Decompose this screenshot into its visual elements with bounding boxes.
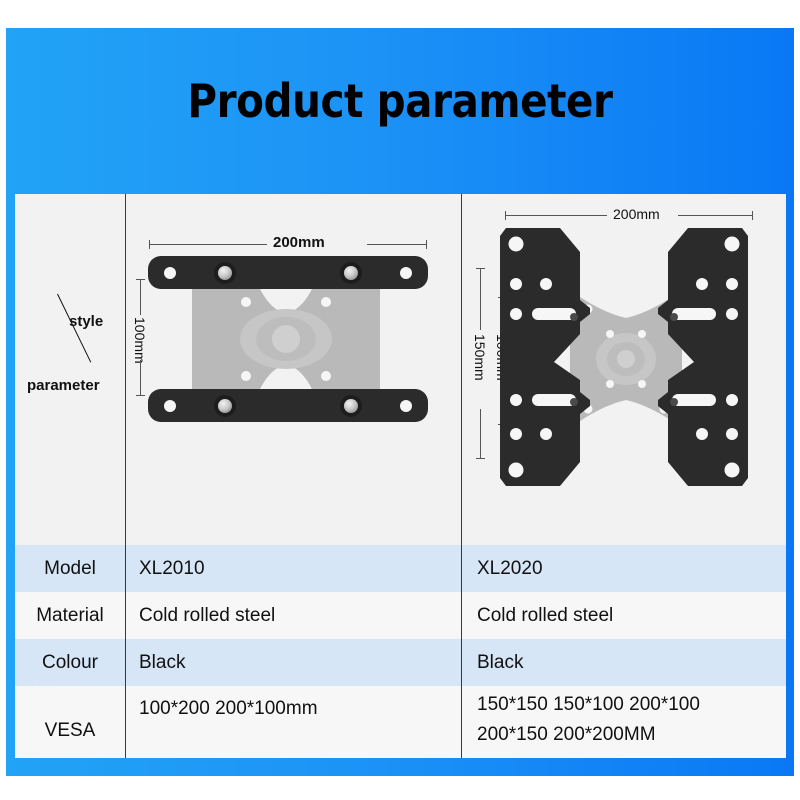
row-label-vesa: VESA <box>15 720 125 742</box>
bracket-hole <box>164 267 176 279</box>
bracket-plate-right <box>652 222 750 492</box>
dim-cap-bottom <box>136 395 145 396</box>
table-row: Model XL2010 XL2020 <box>15 545 786 592</box>
table-corner-header: style parameter <box>15 194 125 545</box>
dim-line-outer-bottom-seg <box>480 409 481 459</box>
table-row: Material Cold rolled steel Cold rolled s… <box>15 592 786 639</box>
row-label-material: Material <box>15 605 125 627</box>
bracket-bolt <box>344 399 358 413</box>
column-divider-1 <box>125 194 126 758</box>
row-value-vesa-xl2020-line1: 150*150 150*100 200*100 <box>477 694 700 716</box>
bracket-hole <box>400 267 412 279</box>
column-divider-2 <box>461 194 462 758</box>
row-value-vesa-xl2010: 100*200 200*100mm <box>139 698 318 720</box>
table-row: VESA 100*200 200*100mm 150*150 150*100 2… <box>15 686 786 758</box>
dim-cap-right <box>426 240 427 249</box>
dim-label-width: 200mm <box>613 206 660 222</box>
row-value-model-xl2020: XL2020 <box>477 558 543 580</box>
corner-header-style-label: style <box>69 313 103 330</box>
row-value-colour-xl2010: Black <box>139 652 185 674</box>
bracket-arm-bottom <box>148 389 428 422</box>
product-image-xl2010: 200mm 100mm <box>126 194 461 545</box>
dim-line-bottom-seg <box>140 360 141 395</box>
dim-line-right-seg <box>678 215 753 216</box>
page-title: Product parameter <box>53 74 746 128</box>
dim-cap-right <box>752 211 753 220</box>
bracket-plate-left <box>498 222 596 492</box>
dim-label-width: 200mm <box>273 234 325 251</box>
parameter-table: style parameter 200mm 100mm <box>15 194 786 758</box>
row-value-vesa-xl2020-line2: 200*150 200*200MM <box>477 724 656 746</box>
row-value-colour-xl2020: Black <box>477 652 523 674</box>
row-value-model-xl2010: XL2010 <box>139 558 205 580</box>
row-value-material-xl2010: Cold rolled steel <box>139 605 275 627</box>
dim-line-top-seg <box>140 279 141 315</box>
bracket-bolt <box>218 399 232 413</box>
bracket-bolt <box>218 266 232 280</box>
watermark-text: ············· <box>25 678 120 690</box>
corner-header-parameter-label: parameter <box>27 377 100 394</box>
bracket-hole <box>164 400 176 412</box>
bracket-hole <box>400 400 412 412</box>
row-label-colour: Colour <box>15 652 125 674</box>
bracket-arm-top <box>148 256 428 289</box>
dim-label-height: 100mm <box>132 317 148 364</box>
dim-line-left-seg <box>149 244 267 245</box>
dim-cap-outer-bottom <box>476 458 485 459</box>
dim-line-outer-top-seg <box>480 268 481 330</box>
product-parameter-card: Product parameter style parameter 200mm … <box>6 28 794 776</box>
dim-line-left-seg <box>505 215 607 216</box>
banner: Product parameter <box>6 28 794 194</box>
bracket-bolt <box>344 266 358 280</box>
row-label-model: Model <box>15 558 125 580</box>
product-image-xl2020: 200mm 150mm 100mm <box>462 194 786 545</box>
table-row: Colour Black Black <box>15 639 786 686</box>
dim-line-right-seg <box>367 244 427 245</box>
row-value-material-xl2020: Cold rolled steel <box>477 605 613 627</box>
dim-label-outer-height: 150mm <box>472 334 488 381</box>
